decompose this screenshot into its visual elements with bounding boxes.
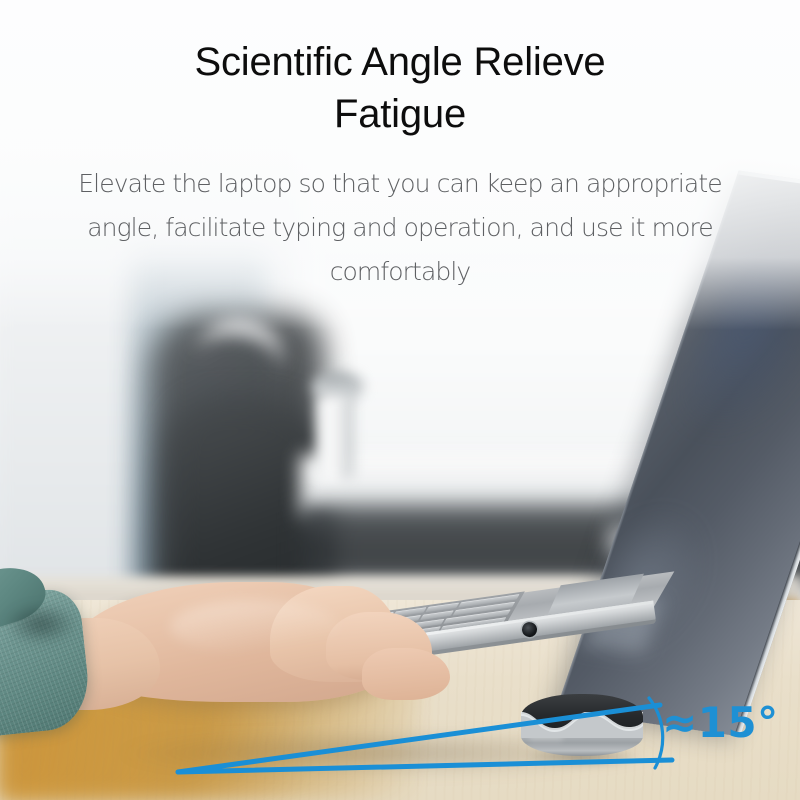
headline-line-1: Scientific Angle Relieve xyxy=(195,40,606,84)
angle-label: ≈15° xyxy=(662,698,779,747)
page-title: Scientific Angle Relieve Fatigue xyxy=(0,36,800,140)
product-scene: ≈15° Scientific Angle Relieve Fatigue El… xyxy=(0,0,800,800)
page-subtitle: Elevate the laptop so that you can keep … xyxy=(60,162,740,294)
subcopy-line-3: comfortably xyxy=(60,250,740,294)
subcopy-line-2: angle, facilitate typing and operation, … xyxy=(60,206,740,250)
subcopy-line-1: Elevate the laptop so that you can keep … xyxy=(60,162,740,206)
headline-line-2: Fatigue xyxy=(0,88,800,140)
